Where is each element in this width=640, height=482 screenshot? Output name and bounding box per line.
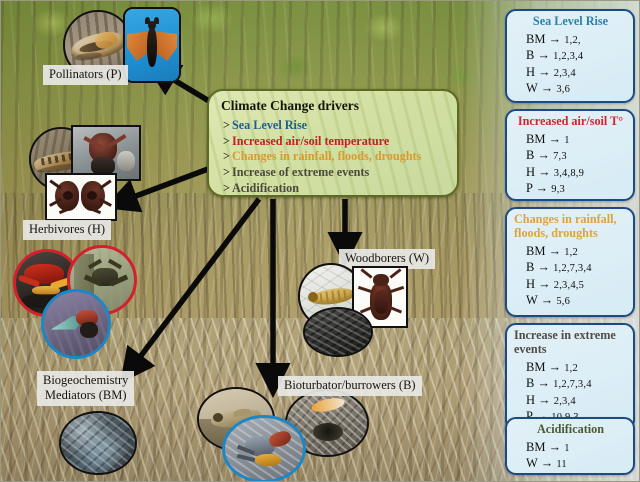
panel-line: H → 2,3,4,5 (526, 276, 627, 292)
biogeochem-label-line1: Biogeochemistry (43, 373, 128, 388)
line-group: BM (526, 244, 545, 258)
drivers-title: Climate Change drivers (221, 98, 447, 114)
line-group: W (526, 81, 538, 95)
panel-changes-in-rainfall-floods-droughts: Changes in rainfall, floods, droughts BM… (505, 207, 635, 317)
panel-title-sea-level-rise: Sea Level Rise (514, 15, 627, 29)
line-targets: 1 (564, 443, 569, 454)
panel-line: BM → 1,2 (526, 359, 627, 375)
bark-beetle-photo (45, 173, 117, 221)
panel-line: H → 2,3,4 (526, 64, 627, 80)
line-targets: 3,6 (556, 84, 570, 95)
panel-line: BM → 1,2 (526, 243, 627, 259)
panel-title-acidification: Acidification (514, 423, 627, 437)
right-arrow-icon: → (538, 277, 551, 291)
panel-line: B → 1,2,7,3,4 (526, 375, 627, 391)
driver-bullet-1: > (223, 134, 230, 148)
panel-line: W → 11 (526, 455, 627, 471)
line-targets: 9,3 (551, 184, 565, 195)
line-group: W (526, 456, 538, 470)
line-group: BM (526, 132, 545, 146)
panel-acidification: Acidification BM → 1 W → 11 (505, 417, 635, 475)
right-arrow-icon: → (538, 165, 551, 179)
group-label-bioturbator: Bioturbator/burrowers (B) (278, 376, 422, 396)
right-arrow-icon: → (536, 181, 549, 195)
fiddler-crab-photo (222, 415, 306, 482)
right-arrow-icon: → (537, 260, 550, 274)
driver-bullet-0: > (223, 118, 230, 132)
right-arrow-icon: → (537, 148, 550, 162)
panel-line: B → 1,2,7,3,4 (526, 259, 627, 275)
driver-label-sea-level-rise: Sea Level Rise (232, 118, 307, 132)
line-targets: 1,2 (564, 363, 578, 374)
panel-line: W → 3,6 (526, 80, 627, 96)
line-group: P (526, 181, 533, 195)
driver-row-extreme-events: >Increase of extreme events (223, 165, 447, 181)
panel-line: B → 1,2,3,4 (526, 47, 627, 63)
figure-canvas: Pollinators (P) Herbivores (H) (0, 0, 640, 482)
line-targets: 1,2, (564, 35, 581, 46)
herbivores-label-text: Herbivores (H) (29, 222, 105, 236)
panel-line: BM → 1 (526, 131, 627, 147)
right-arrow-icon: → (537, 48, 550, 62)
line-group: BM (526, 440, 545, 454)
biogeochem-label-line2: Mediators (BM) (43, 388, 128, 403)
line-targets: 1 (564, 135, 569, 146)
line-group: H (526, 277, 535, 291)
woodborers-label-text: Woodborers (W) (345, 251, 429, 265)
panel-line: B → 7,3 (526, 147, 627, 163)
right-arrow-icon: → (541, 81, 554, 95)
right-arrow-icon: → (541, 456, 554, 470)
line-targets: 2,3,4 (554, 396, 576, 407)
climate-change-drivers-box: Climate Change drivers >Sea Level Rise >… (207, 89, 459, 197)
line-targets: 2,3,4,5 (554, 280, 584, 291)
line-group: W (526, 293, 538, 307)
line-targets: 3,4,8,9 (554, 168, 584, 179)
panel-line: H → 2,3,4 (526, 392, 627, 408)
panel-increased-air-soil-temperature: Increased air/soil T° BM → 1 B → 7,3 H →… (505, 109, 635, 201)
panel-line: H → 3,4,8,9 (526, 164, 627, 180)
driver-label-rainfall-changes: Changes in rainfall, floods, droughts (232, 149, 421, 163)
biofilm-photo (59, 411, 137, 475)
line-targets: 1,2,3,4 (553, 51, 583, 62)
driver-label-extreme-events: Increase of extreme events (232, 165, 369, 179)
driver-label-increased-temperature: Increased air/soil temperature (232, 134, 389, 148)
driver-row-sea-level-rise: >Sea Level Rise (223, 118, 447, 134)
panel-title-increased-air-soil-temperature: Increased air/soil T° (514, 115, 627, 129)
panel-sea-level-rise: Sea Level Rise BM → 1,2, B → 1,2,3,4 H →… (505, 9, 635, 103)
line-targets: 2,3,4 (554, 68, 576, 79)
right-arrow-icon: → (549, 244, 562, 258)
panel-line: W → 5,6 (526, 292, 627, 308)
panel-line: BM → 1 (526, 439, 627, 455)
line-group: H (526, 393, 535, 407)
line-group: B (526, 48, 534, 62)
panel-increase-in-extreme-events: Increase in extreme events BM → 1,2 B → … (505, 323, 635, 431)
right-arrow-icon: → (537, 376, 550, 390)
pollinators-label-text: Pollinators (P) (49, 67, 122, 81)
group-label-pollinators: Pollinators (P) (43, 65, 128, 85)
right-arrow-icon: → (538, 393, 551, 407)
bat-photo (123, 7, 181, 83)
right-arrow-icon: → (549, 360, 562, 374)
driver-row-rainfall-changes: >Changes in rainfall, floods, droughts (223, 149, 447, 165)
driver-row-acidification: >Acidification (223, 181, 447, 197)
line-targets: 5,6 (556, 296, 570, 307)
line-group: B (526, 148, 534, 162)
line-targets: 1,2,7,3,4 (553, 379, 592, 390)
group-label-herbivores: Herbivores (H) (23, 220, 111, 240)
line-group: H (526, 65, 535, 79)
panel-title-changes-in-rainfall-floods-droughts: Changes in rainfall, floods, droughts (514, 213, 627, 241)
right-arrow-icon: → (541, 293, 554, 307)
line-group: BM (526, 360, 545, 374)
group-label-biogeochemistry-mediators: Biogeochemistry Mediators (BM) (37, 371, 134, 406)
right-arrow-icon: → (549, 32, 562, 46)
panel-line: P → 9,3 (526, 180, 627, 196)
line-targets: 7,3 (553, 151, 567, 162)
driver-label-acidification: Acidification (232, 181, 299, 195)
line-group: H (526, 165, 535, 179)
mud-crab-photo (41, 289, 111, 359)
line-targets: 1,2 (564, 247, 578, 258)
line-group: B (526, 260, 534, 274)
bioturbator-label-text: Bioturbator/burrowers (B) (284, 378, 416, 392)
right-arrow-icon: → (538, 65, 551, 79)
panel-title-increase-in-extreme-events: Increase in extreme events (514, 329, 627, 357)
driver-bullet-4: > (223, 181, 230, 195)
driver-row-increased-temperature: >Increased air/soil temperature (223, 134, 447, 150)
line-targets: 11 (556, 459, 567, 470)
line-group: B (526, 376, 534, 390)
panel-line: BM → 1,2, (526, 31, 627, 47)
right-arrow-icon: → (549, 440, 562, 454)
line-group: BM (526, 32, 545, 46)
driver-bullet-3: > (223, 165, 230, 179)
driver-bullet-2: > (223, 149, 230, 163)
line-targets: 1,2,7,3,4 (553, 263, 592, 274)
bored-wood-photo (303, 307, 373, 357)
right-arrow-icon: → (549, 132, 562, 146)
